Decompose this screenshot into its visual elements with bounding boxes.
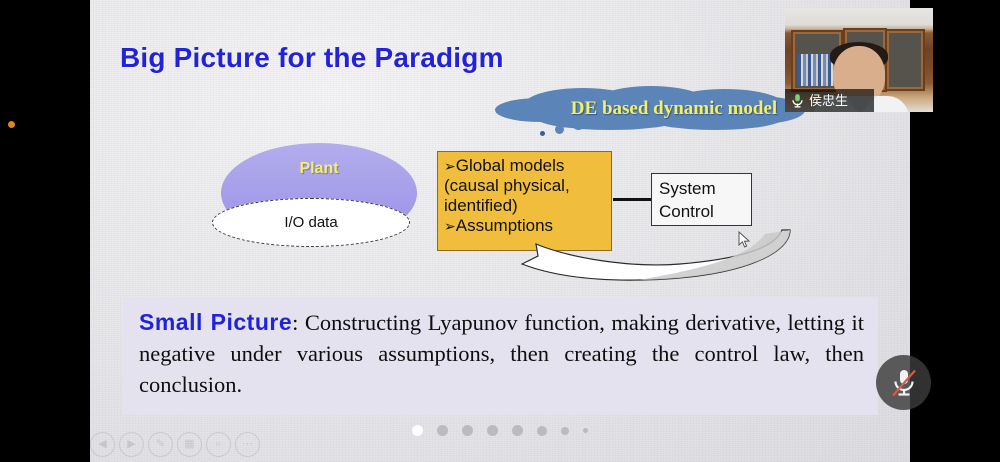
model-box-line: ➢Global models (444, 156, 605, 176)
cloud-callout: DE based dynamic model (495, 86, 805, 132)
participant-name-label: 侯忠生 (809, 94, 848, 107)
small-picture-panel: Small Picture: Constructing Lyapunov fun… (123, 297, 878, 415)
mouse-cursor-icon (738, 231, 750, 249)
plant-label: Plant (221, 160, 417, 178)
io-data-label: I/O data (284, 214, 337, 231)
page-title: Big Picture for the Paradigm (120, 42, 504, 74)
pagination-dot[interactable] (512, 425, 523, 436)
model-box-line: identified) (444, 196, 605, 216)
bookcase-panel (885, 29, 925, 91)
system-box-line: Control (659, 200, 751, 223)
system-control-box: System Control (651, 173, 752, 226)
model-box-line: (causal physical, (444, 176, 605, 196)
microphone-muted-icon (889, 367, 919, 399)
pagination-dot[interactable] (537, 426, 547, 436)
pagination-dot[interactable] (412, 425, 423, 436)
feedback-arrow-icon (490, 228, 810, 290)
system-box-line: System (659, 177, 751, 200)
self-mute-badge[interactable] (876, 355, 931, 410)
pagination-dot[interactable] (462, 425, 473, 436)
io-data-ellipse: I/O data (212, 198, 410, 247)
pagination-dot[interactable] (561, 427, 569, 435)
pagination-dot[interactable] (437, 425, 448, 436)
pagination-dot[interactable] (487, 425, 498, 436)
bullet-arrow-icon: ➢ (444, 158, 456, 174)
pagination-dot[interactable] (583, 428, 588, 433)
cloud-callout-label: DE based dynamic model (495, 86, 805, 132)
participant-video-tile[interactable]: 侯忠生 (785, 8, 933, 112)
left-indicator-dot (8, 121, 15, 128)
meeting-stage: Big Picture for the Paradigm DE based dy… (0, 0, 1000, 462)
small-picture-lead: Small Picture (139, 309, 292, 335)
pagination-dots[interactable] (0, 425, 1000, 436)
bullet-arrow-icon: ➢ (444, 218, 456, 234)
small-picture-text: Small Picture: Constructing Lyapunov fun… (139, 307, 864, 400)
